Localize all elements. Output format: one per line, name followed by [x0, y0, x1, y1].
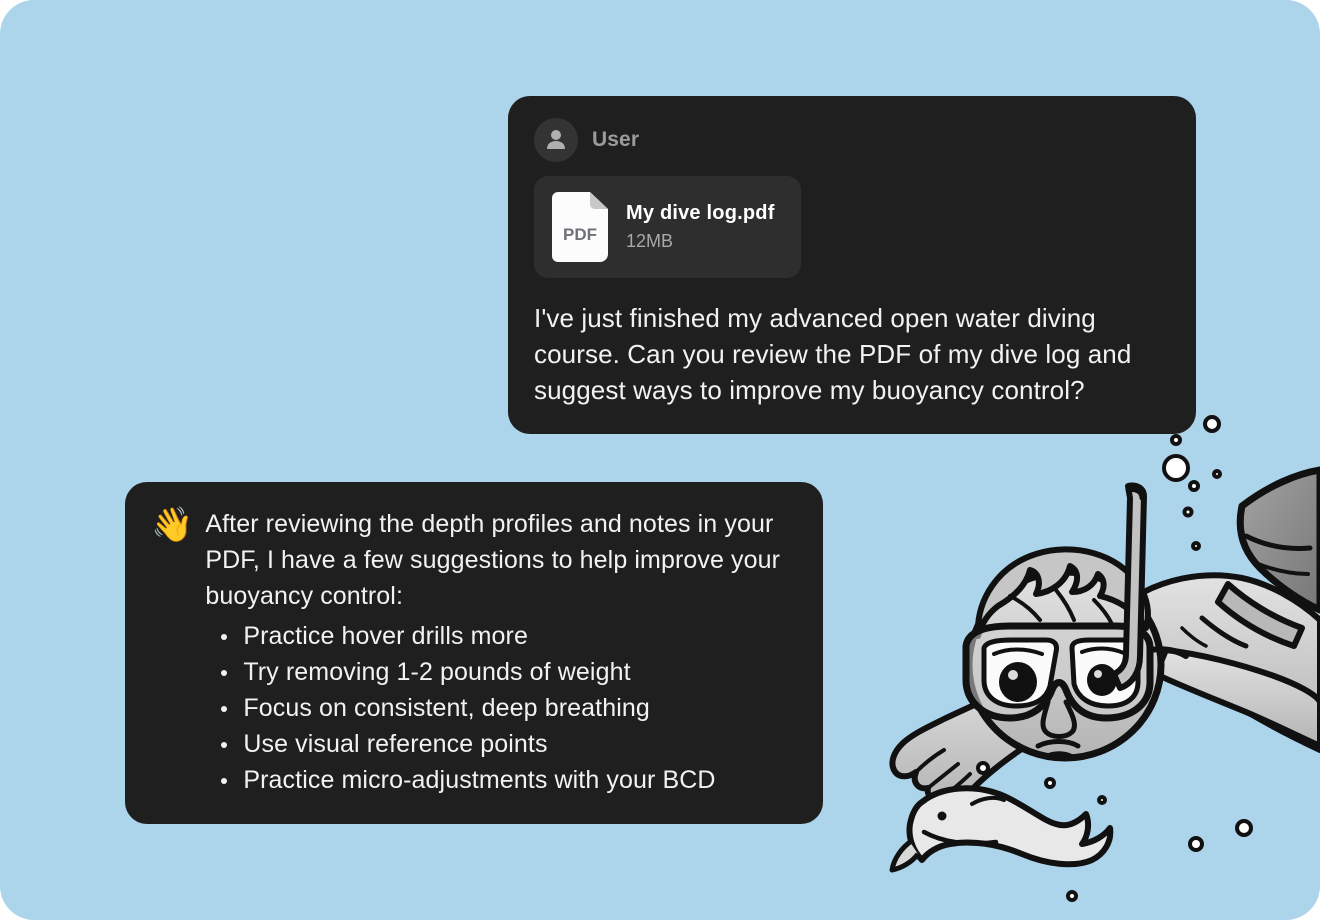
assistant-intro-text: After reviewing the depth profiles and n…	[205, 506, 795, 614]
list-item: Try removing 1-2 pounds of weight	[205, 654, 795, 690]
assistant-message-content: After reviewing the depth profiles and n…	[205, 506, 795, 798]
file-metadata: My dive log.pdf 12MB	[626, 202, 775, 252]
waving-hand-emoji: 👋	[151, 506, 193, 544]
user-message-text: I've just finished my advanced open wate…	[534, 300, 1170, 408]
file-attachment-chip[interactable]: PDF My dive log.pdf 12MB	[534, 176, 801, 278]
pdf-file-icon: PDF	[552, 192, 608, 262]
list-item: Use visual reference points	[205, 726, 795, 762]
svg-text:PDF: PDF	[563, 225, 597, 244]
list-item: Practice hover drills more	[205, 618, 795, 654]
assistant-suggestion-list: Practice hover drills more Try removing …	[205, 618, 795, 798]
file-size-label: 12MB	[626, 231, 775, 252]
user-author-label: User	[592, 128, 639, 152]
list-item: Focus on consistent, deep breathing	[205, 690, 795, 726]
file-name-label: My dive log.pdf	[626, 202, 775, 225]
user-message-bubble: User PDF My dive log.pdf 12MB I've just …	[508, 96, 1196, 434]
user-avatar-icon	[534, 118, 578, 162]
screenshot-canvas: User PDF My dive log.pdf 12MB I've just …	[0, 0, 1320, 920]
list-item: Practice micro-adjustments with your BCD	[205, 762, 795, 798]
assistant-message-bubble: 👋 After reviewing the depth profiles and…	[125, 482, 823, 824]
user-message-header: User	[534, 118, 1170, 162]
snorkeler-underwater-illustration	[850, 450, 1320, 920]
assistant-message-body: 👋 After reviewing the depth profiles and…	[151, 506, 795, 798]
